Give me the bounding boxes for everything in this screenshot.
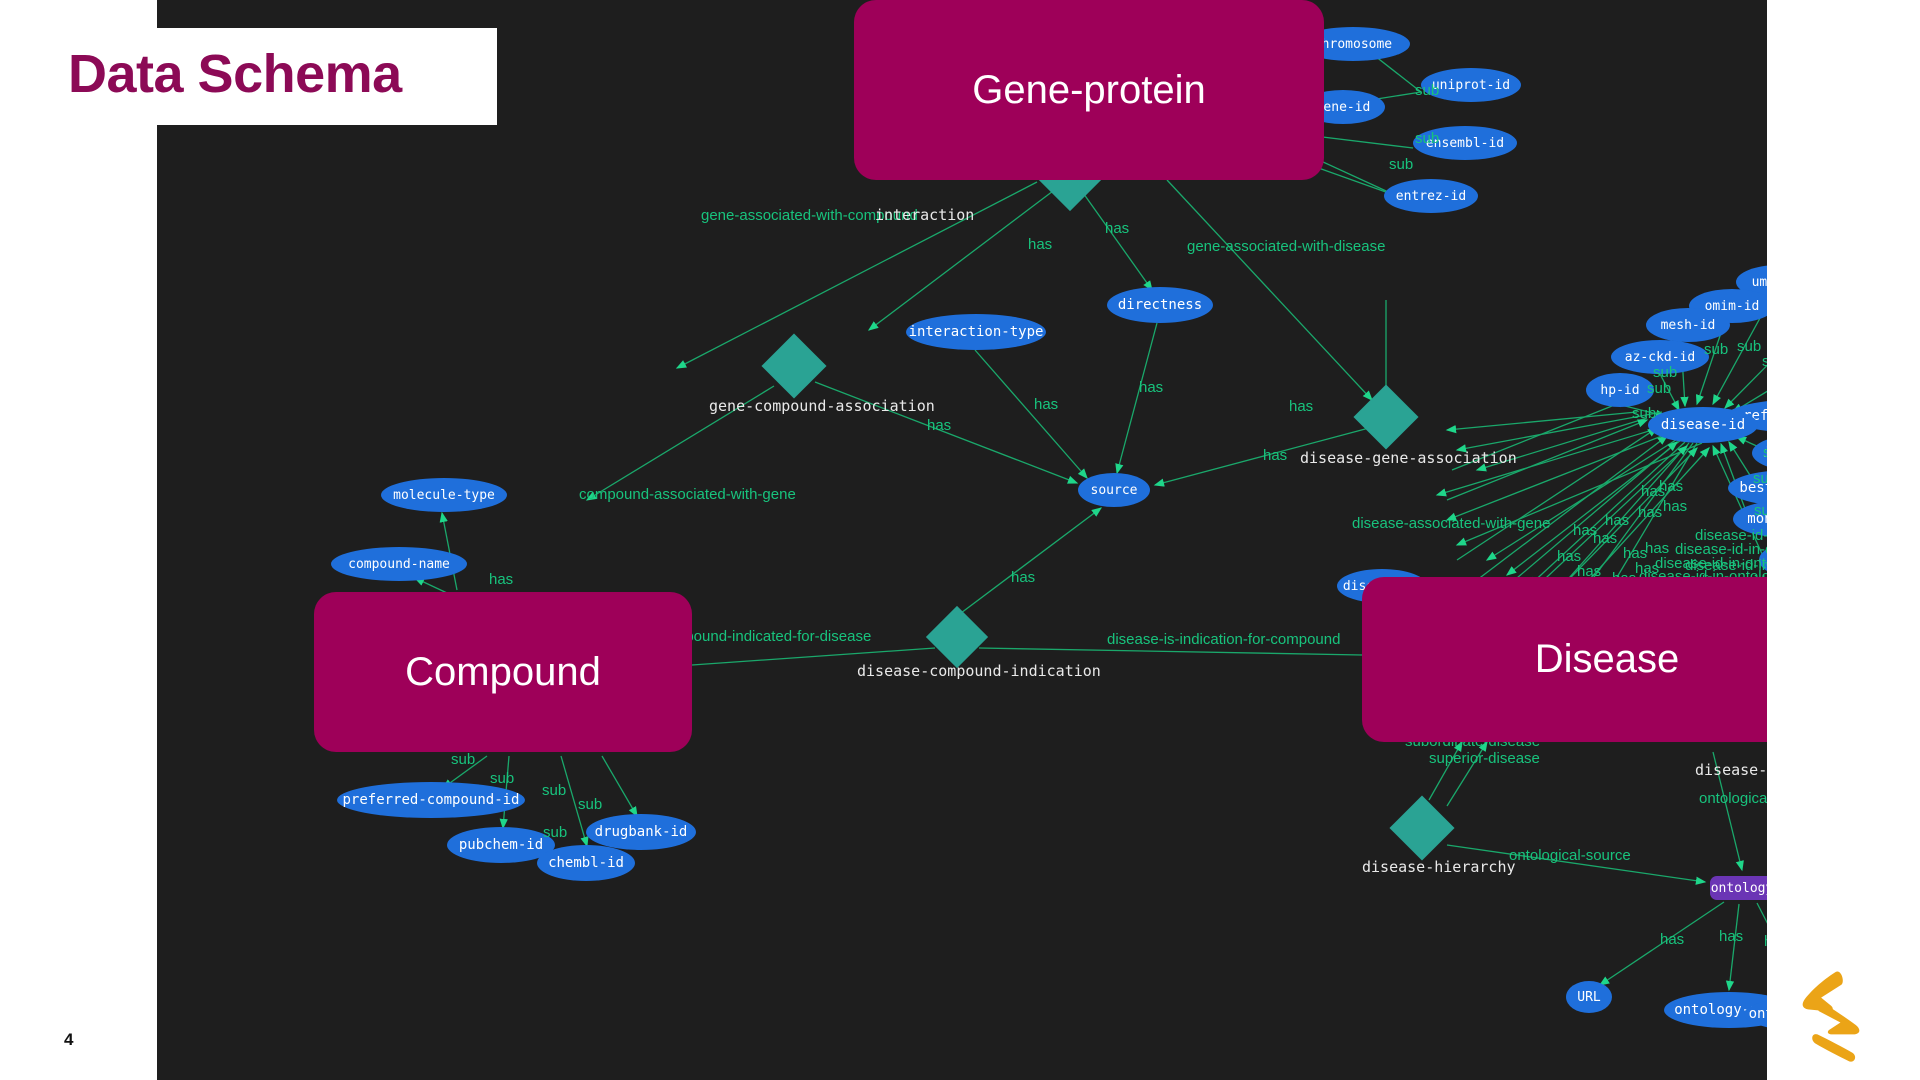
edge-label-sub-umls: sub — [1762, 353, 1767, 370]
edge-label-sub-pref-comp2: sub — [490, 770, 514, 787]
attribute-mesh-id[interactable]: mesh-id — [1646, 308, 1730, 342]
edge-label-sub-pref-comp: sub — [451, 751, 475, 768]
edge-label-disease-is-indication-for-compound: disease-is-indication-for-compound — [1107, 631, 1340, 648]
edge-label-has-src-dir: has — [1139, 379, 1163, 396]
edge-label-has-dci-src: has — [1011, 569, 1035, 586]
edge-label-has-gca: has — [927, 417, 951, 434]
edge-label-disease-id-ontology-lbl: disease-id-ontology — [1695, 761, 1767, 779]
edge-label-ontological-source-1: ontological-source — [1509, 847, 1631, 864]
edge-label-sub-mesh: sub — [1704, 341, 1728, 358]
edge-label-sub-chembl: sub — [578, 796, 602, 813]
attribute-preferred-compound-id[interactable]: preferred-compound-id — [337, 782, 525, 818]
attribute-hp-id[interactable]: hp-id — [1586, 373, 1654, 407]
attribute-compound-name[interactable]: compound-name — [331, 547, 467, 581]
attribute-directness[interactable]: directness — [1107, 287, 1213, 323]
entity-label: Compound — [405, 650, 601, 695]
entity-disease[interactable]: Disease — [1362, 577, 1767, 742]
page-number: 4 — [64, 1030, 73, 1050]
edge-label-sub-ensembl: sub — [1415, 130, 1439, 147]
page-title: Data Schema — [68, 43, 402, 105]
edge-label-sub-icd: sub — [1763, 444, 1767, 461]
edge-label-has-ont-name: has — [1719, 928, 1743, 945]
edge-label-has-url: has — [1660, 931, 1684, 948]
edge-label-sub-pubchem: sub — [542, 782, 566, 799]
edge-label-has-ont-ver: has — [1764, 933, 1767, 950]
edge-label-has-src-dga: has — [1263, 447, 1287, 464]
attribute-interaction-type[interactable]: interaction-type — [906, 314, 1046, 350]
edge-label-sub-orph: sub — [1647, 380, 1671, 397]
edge-label-disease-gene-association-lbl: disease-gene-association — [1300, 449, 1517, 467]
edge-label-has-d4: has — [1638, 504, 1662, 521]
edge-label-gene-assoc-disease: gene-associated-with-disease — [1187, 238, 1385, 255]
attribute-molecule-type[interactable]: molecule-type — [381, 478, 507, 512]
edge-label-sub-drugbank: sub — [543, 824, 567, 841]
edge-label-superior-disease: superior-disease — [1429, 750, 1540, 767]
edge-label-sub-azckd: sub — [1653, 364, 1677, 381]
entity-compound[interactable]: Compound — [314, 592, 692, 752]
diagram-canvas: Gene-proteinCompoundDiseasechromosomeuni… — [157, 0, 1767, 1080]
attribute-URL[interactable]: URL — [1566, 981, 1612, 1013]
edge-label-sub-bmesh: sub — [1753, 470, 1767, 487]
edge-label-sub-uniprot: sub — [1415, 82, 1439, 99]
edge-label-has-dir-dga: has — [1289, 398, 1313, 415]
attribute-entrez-id[interactable]: entrez-id — [1384, 179, 1478, 213]
edge-label-has-d2: has — [1659, 478, 1683, 495]
entity-gene-protein[interactable]: Gene-protein — [854, 0, 1324, 180]
node-ontology[interactable]: ontology — [1710, 876, 1767, 900]
edge-label-has-d3: has — [1663, 498, 1687, 515]
edge-label-gene-compound-association-lbl: gene-compound-association — [709, 397, 935, 415]
edge-label-interaction-lbl: interaction — [875, 206, 974, 224]
edge-label-disease-assoc-gene: disease-associated-with-gene — [1352, 515, 1550, 532]
attribute-disease-id[interactable]: disease-id — [1648, 407, 1758, 443]
attribute-chembl-id[interactable]: chembl-id — [537, 845, 635, 881]
edge-label-sub-entrez: sub — [1389, 156, 1413, 173]
edge-label-disease-compound-indication-lbl: disease-compound-indication — [857, 662, 1101, 680]
attribute-source[interactable]: source — [1078, 473, 1150, 507]
entity-label: Disease — [1535, 637, 1680, 682]
edge-label-has-mol: has — [489, 571, 513, 588]
edge-label-has-d7: has — [1573, 522, 1597, 539]
edge-label-has-it: has — [1028, 236, 1052, 253]
edge-label-compound-assoc-gene: compound-associated-with-gene — [579, 486, 796, 503]
slide-canvas: Gene-proteinCompoundDiseasechromosomeuni… — [0, 0, 1920, 1080]
edge-label-ontological-source-2: ontological-source — [1699, 790, 1767, 807]
edge-label-sub-hp: sub — [1632, 405, 1656, 422]
attribute-drugbank-id[interactable]: drugbank-id — [586, 814, 696, 850]
edge-label-sub-mondo: sub — [1754, 502, 1767, 519]
edge-label-sub-omim: sub — [1737, 338, 1761, 355]
entity-label: Gene-protein — [972, 68, 1205, 113]
astrazeneca-logo — [1788, 968, 1880, 1064]
edge-label-has-dir: has — [1105, 220, 1129, 237]
edge-label-has-d5: has — [1605, 512, 1629, 529]
edge-label-has-src-it: has — [1034, 396, 1058, 413]
edge-label-disease-hierarchy-lbl: disease-hierarchy — [1362, 858, 1516, 876]
